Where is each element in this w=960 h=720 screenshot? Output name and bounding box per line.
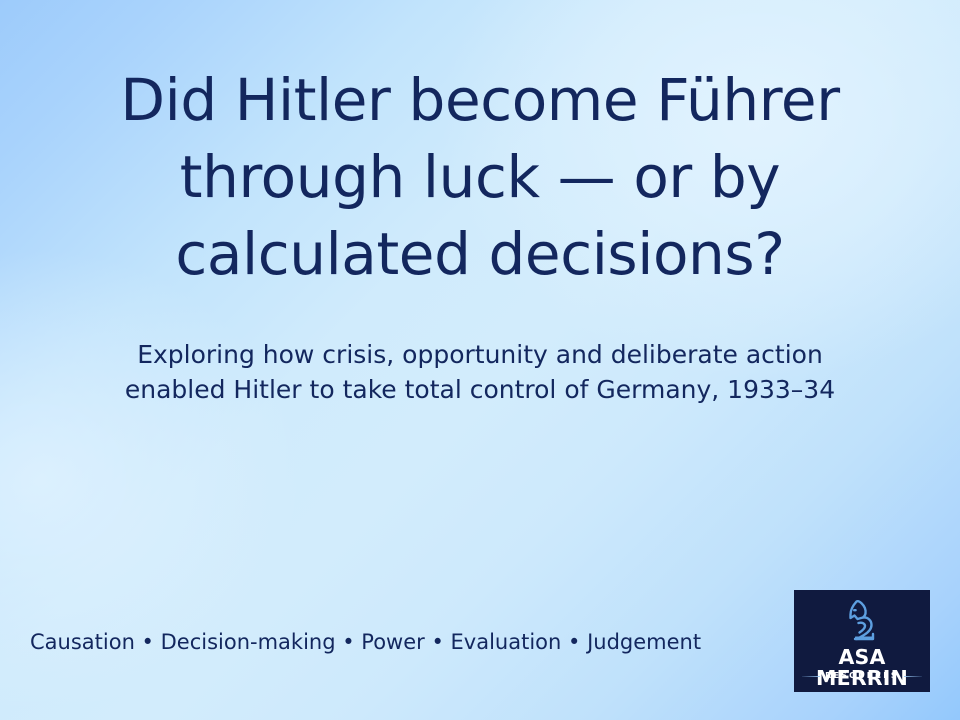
title-block: Did Hitler become Führer through luck — … bbox=[40, 62, 920, 293]
subtitle-block: Exploring how crisis, opportunity and de… bbox=[40, 338, 920, 407]
tagline-rule-left bbox=[802, 676, 820, 677]
page-subtitle: Exploring how crisis, opportunity and de… bbox=[40, 338, 920, 407]
brand-tagline-row: RESOURCES bbox=[802, 672, 922, 680]
brand-name: ASA MERRIN bbox=[794, 647, 930, 688]
chess-knight-icon bbox=[839, 595, 885, 645]
keyword-strip: Causation • Decision-making • Power • Ev… bbox=[30, 630, 701, 655]
brand-tagline: RESOURCES bbox=[825, 672, 899, 680]
slide-canvas: Did Hitler become Führer through luck — … bbox=[0, 0, 960, 720]
page-title: Did Hitler become Führer through luck — … bbox=[40, 62, 920, 293]
brand-logo: ASA MERRIN RESOURCES bbox=[794, 590, 930, 692]
tagline-rule-right bbox=[904, 676, 922, 677]
